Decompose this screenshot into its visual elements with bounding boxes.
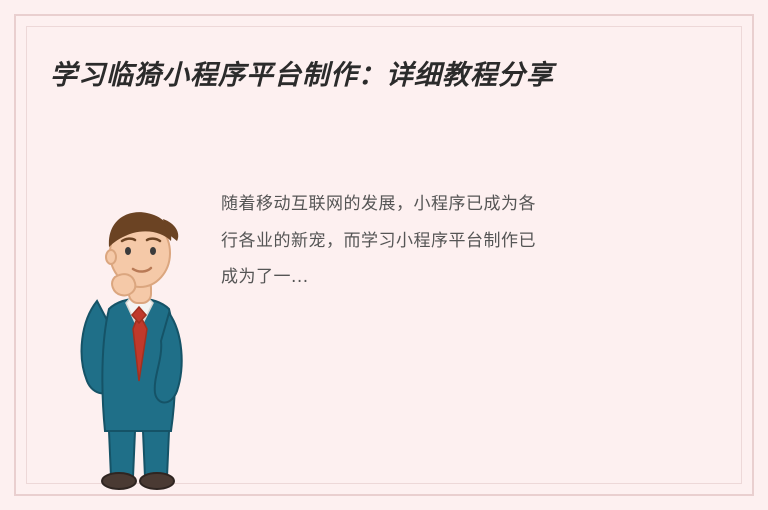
page-title: 学习临猗小程序平台制作：详细教程分享	[50, 56, 710, 97]
thinking-businessman-illustration	[71, 181, 216, 491]
article-card: 学习临猗小程序平台制作：详细教程分享	[14, 14, 754, 496]
article-excerpt: 随着移动互联网的发展，小程序已成为各行各业的新宠，而学习小程序平台制作已成为了一…	[221, 186, 551, 296]
